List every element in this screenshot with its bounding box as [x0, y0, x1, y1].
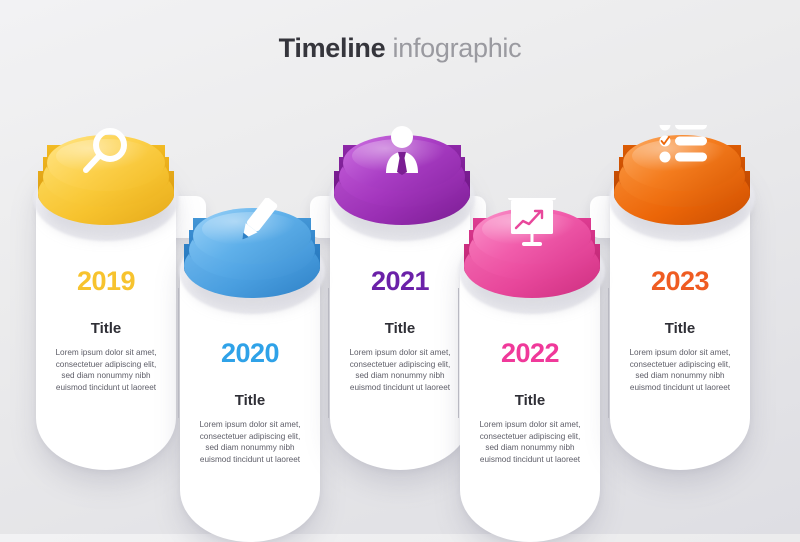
infographic-canvas: Timeline infographic 2019 Title Lorem ip… — [0, 0, 800, 534]
cards-layer: 2019 Title Lorem ipsum dolor sit amet, c… — [0, 0, 800, 534]
year-label-2021: 2021 — [336, 268, 464, 295]
card-text-2022: 2022 Title Lorem ipsum dolor sit amet, c… — [460, 340, 600, 466]
card-divider-4 — [608, 288, 609, 418]
year-label-2019: 2019 — [42, 268, 170, 295]
card-body-2022: Lorem ipsum dolor sit amet, consectetuer… — [466, 419, 594, 466]
card-divider-2 — [328, 288, 329, 418]
card-title-2019: Title — [42, 321, 170, 336]
disc-2022[interactable] — [456, 198, 608, 316]
card-body-2021: Lorem ipsum dolor sit amet, consectetuer… — [336, 347, 464, 394]
disc-layer1-2022 — [473, 208, 591, 264]
card-text-2023: 2023 Title Lorem ipsum dolor sit amet, c… — [610, 268, 750, 394]
disc-layer1-2019 — [47, 135, 165, 191]
card-text-2020: 2020 Title Lorem ipsum dolor sit amet, c… — [180, 340, 320, 466]
card-text-2019: 2019 Title Lorem ipsum dolor sit amet, c… — [36, 268, 176, 394]
disc-layer1-2021 — [343, 135, 461, 191]
card-title-2020: Title — [186, 393, 314, 408]
disc-layer1-2020 — [193, 208, 311, 264]
card-body-2023: Lorem ipsum dolor sit amet, consectetuer… — [616, 347, 744, 394]
card-text-2021: 2021 Title Lorem ipsum dolor sit amet, c… — [330, 268, 470, 394]
card-body-2019: Lorem ipsum dolor sit amet, consectetuer… — [42, 347, 170, 394]
card-title-2022: Title — [466, 393, 594, 408]
year-label-2020: 2020 — [186, 340, 314, 367]
card-body-2020: Lorem ipsum dolor sit amet, consectetuer… — [186, 419, 314, 466]
card-title-2023: Title — [616, 321, 744, 336]
disc-2019[interactable] — [30, 125, 182, 243]
disc-2023[interactable] — [606, 125, 758, 243]
disc-layer1-2023 — [623, 135, 741, 191]
year-label-2023: 2023 — [616, 268, 744, 295]
year-label-2022: 2022 — [466, 340, 594, 367]
card-title-2021: Title — [336, 321, 464, 336]
disc-2020[interactable] — [176, 198, 328, 316]
